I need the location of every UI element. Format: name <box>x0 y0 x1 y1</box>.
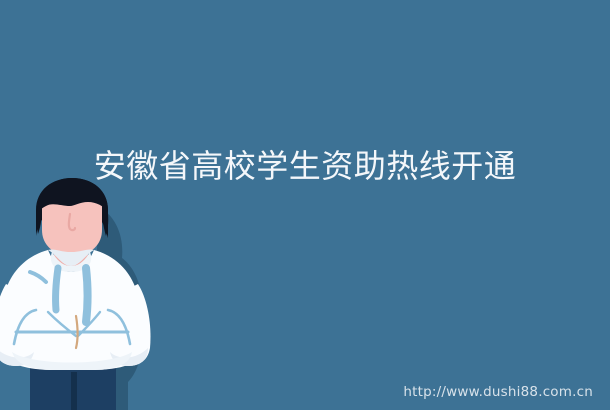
student-illustration-svg <box>0 176 152 410</box>
site-watermark: http://www.dushi88.com.cn <box>403 384 593 400</box>
article-banner: 安徽省高校学生资助热线开通 http://www.dushi88.com.cn <box>0 0 610 410</box>
banner-headline: 安徽省高校学生资助热线开通 <box>0 146 610 186</box>
student-illustration <box>0 176 152 410</box>
